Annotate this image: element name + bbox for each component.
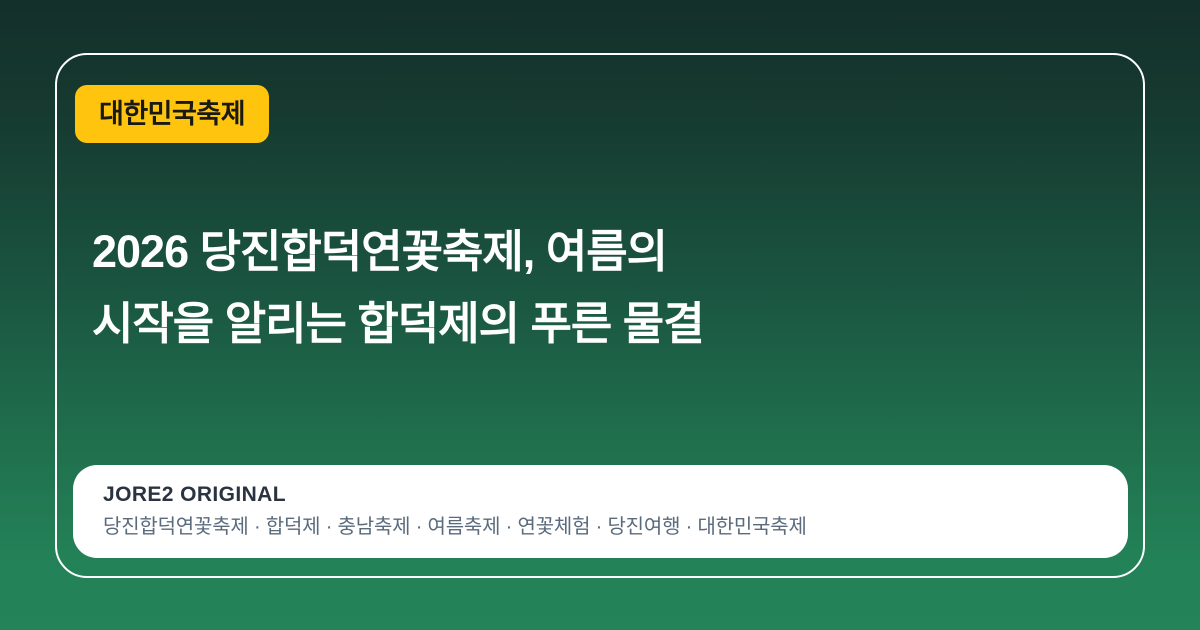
- page-title: 2026 당진합덕연꽃축제, 여름의 시작을 알리는 합덕제의 푸른 물결: [92, 216, 1072, 360]
- category-badge[interactable]: 대한민국축제: [75, 85, 269, 143]
- category-badge-label: 대한민국축제: [99, 101, 245, 128]
- footer-card: JORE2 ORIGINAL 당진합덕연꽃축제 · 합덕제 · 충남축제 · 여…: [73, 465, 1128, 558]
- festival-poster: 대한민국축제 2026 당진합덕연꽃축제, 여름의 시작을 알리는 합덕제의 푸…: [0, 0, 1200, 630]
- page-title-line-1: 2026 당진합덕연꽃축제, 여름의: [92, 216, 1072, 288]
- tag-list: 당진합덕연꽃축제 · 합덕제 · 충남축제 · 여름축제 · 연꽃체험 · 당진…: [103, 515, 1098, 540]
- page-title-line-2: 시작을 알리는 합덕제의 푸른 물결: [92, 288, 1072, 360]
- brand-label: JORE2 ORIGINAL: [103, 483, 1098, 506]
